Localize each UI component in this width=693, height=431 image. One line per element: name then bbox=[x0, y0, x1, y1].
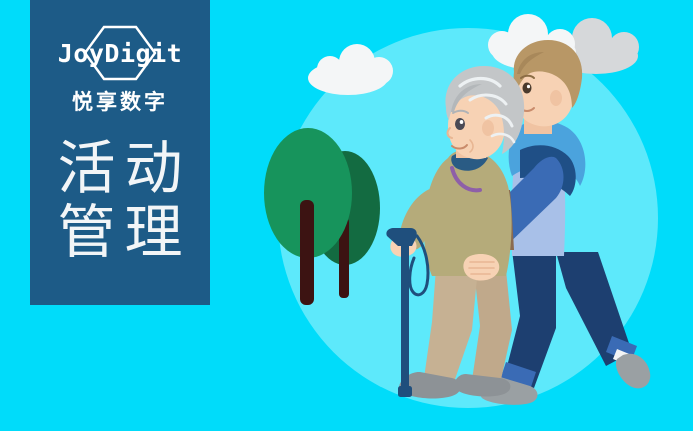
young-man-eye-highlight bbox=[527, 85, 530, 89]
logo-wordmark: JoyDigit bbox=[58, 39, 182, 68]
banner-root: JoyDigit 悦享数字 活动 管理 bbox=[0, 0, 693, 431]
elderly-ear bbox=[482, 120, 494, 136]
young-man-eye bbox=[523, 83, 532, 94]
young-man-ear bbox=[550, 90, 562, 106]
page-title: 活动 管理 bbox=[48, 136, 191, 264]
cane-tip bbox=[398, 386, 412, 397]
elderly-eye bbox=[455, 118, 465, 130]
cane-shaft bbox=[401, 244, 409, 390]
page-title-line-2: 管理 bbox=[48, 200, 191, 264]
logo-subtitle: 悦享数字 bbox=[72, 86, 168, 116]
brand-panel: JoyDigit 悦享数字 活动 管理 bbox=[30, 0, 210, 305]
elderly-eye-highlight bbox=[460, 120, 464, 124]
logo-lockup: JoyDigit bbox=[45, 26, 195, 80]
page-title-line-1: 活动 bbox=[48, 136, 191, 200]
